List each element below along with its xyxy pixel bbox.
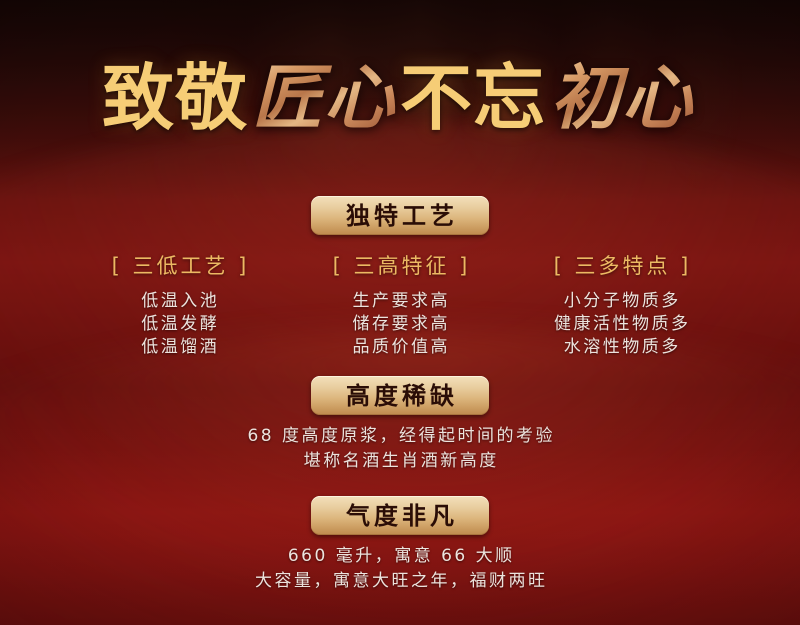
badge-extraordinary-character-label: 气度非凡 — [342, 504, 458, 528]
craft-column-low-item-1: 低温入池 — [70, 290, 288, 313]
headline-segment-zhijing: 致敬 — [102, 56, 248, 140]
craft-column-many: [ 三多特点 ] 小分子物质多 健康活性物质多 水溶性物质多 — [512, 250, 730, 359]
craft-column-many-item-1: 小分子物质多 — [512, 290, 730, 313]
craft-column-low-item-3: 低温馏酒 — [70, 336, 288, 359]
promo-banner: 致敬匠心不忘初心 独特工艺 [ 三低工艺 ] 低温入池 低温发酵 低温馏酒 [ … — [0, 0, 800, 625]
craft-column-high-item-3: 品质价值高 — [291, 336, 509, 359]
character-paragraph: 660 毫升，寓意 66 大顺 大容量，寓意大旺之年，福财两旺 — [0, 544, 800, 594]
content-layer: 致敬匠心不忘初心 独特工艺 [ 三低工艺 ] 低温入池 低温发酵 低温馏酒 [ … — [0, 0, 800, 625]
craft-column-high: [ 三高特征 ] 生产要求高 储存要求高 品质价值高 — [291, 250, 509, 359]
craft-column-many-title: [ 三多特点 ] — [512, 250, 730, 280]
headline: 致敬匠心不忘初心 — [0, 62, 800, 134]
craft-column-low-item-2: 低温发酵 — [70, 313, 288, 336]
badge-high-rarity-label: 高度稀缺 — [342, 384, 458, 408]
badge-extraordinary-character: 气度非凡 — [311, 496, 489, 535]
craft-column-high-title: [ 三高特征 ] — [291, 250, 509, 280]
rarity-line-1: 68 度高度原浆，经得起时间的考验 — [0, 424, 800, 449]
craft-column-low-title: [ 三低工艺 ] — [70, 250, 288, 280]
character-line-2: 大容量，寓意大旺之年，福财两旺 — [0, 569, 800, 594]
craft-columns: [ 三低工艺 ] 低温入池 低温发酵 低温馏酒 [ 三高特征 ] 生产要求高 储… — [70, 250, 730, 359]
rarity-line-2: 堪称名酒生肖酒新高度 — [0, 449, 800, 474]
badge-unique-craft: 独特工艺 — [311, 196, 489, 235]
rarity-paragraph: 68 度高度原浆，经得起时间的考验 堪称名酒生肖酒新高度 — [0, 424, 800, 474]
headline-segment-chuxin: 初心 — [550, 56, 694, 139]
craft-column-many-item-3: 水溶性物质多 — [512, 336, 730, 359]
craft-column-many-item-2: 健康活性物质多 — [512, 313, 730, 336]
badge-high-rarity: 高度稀缺 — [311, 376, 489, 415]
character-line-1: 660 毫升，寓意 66 大顺 — [0, 544, 800, 569]
headline-segment-jiangxin: 匠心 — [252, 56, 396, 139]
craft-column-high-item-1: 生产要求高 — [291, 290, 509, 313]
craft-column-low: [ 三低工艺 ] 低温入池 低温发酵 低温馏酒 — [70, 250, 288, 359]
badge-unique-craft-label: 独特工艺 — [342, 204, 458, 228]
craft-column-high-item-2: 储存要求高 — [291, 313, 509, 336]
headline-segment-buwang: 不忘 — [400, 56, 546, 140]
